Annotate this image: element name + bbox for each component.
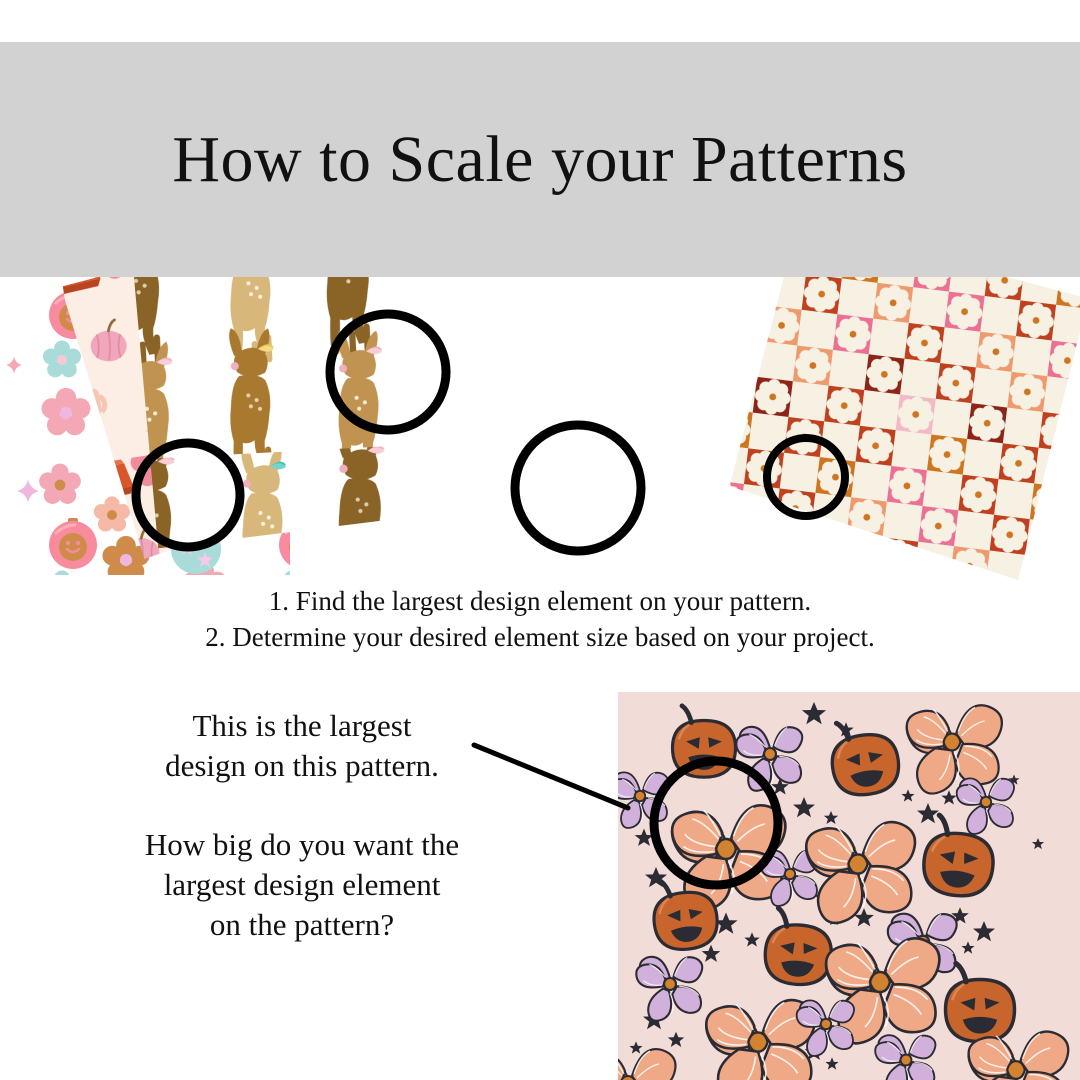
callout-p2-line-3: on the pattern?	[42, 905, 562, 945]
callout-p2-line-1: How big do you want the	[42, 825, 562, 865]
callout-p1-line-2: design on this pattern.	[42, 746, 562, 786]
step-1: 1. Find the largest design element on yo…	[0, 584, 1080, 620]
swatch-deer-fawn	[122, 223, 459, 569]
pattern-sheets-group	[0, 215, 1080, 585]
step-2: 2. Determine your desired element size b…	[0, 620, 1080, 656]
infographic-canvas: How to Scale your Patterns	[0, 0, 1080, 1080]
swatch-halloween-floral-svg	[618, 692, 1080, 1080]
swatch-halloween-floral	[618, 692, 1080, 1080]
swatch-daisy-checkerboard	[714, 215, 1080, 585]
steps-list: 1. Find the largest design element on yo…	[0, 584, 1080, 655]
callout-p2-line-2: largest design element	[42, 865, 562, 905]
callout-paragraph-1: This is the largest design on this patte…	[42, 706, 562, 787]
page-title-text: How to Scale your Patterns	[172, 127, 907, 193]
callout-text-block: This is the largest design on this patte…	[42, 706, 562, 945]
callout-p1-line-1: This is the largest	[42, 706, 562, 746]
pattern-sheets-svg	[0, 215, 1080, 585]
callout-paragraph-2: How big do you want the largest design e…	[42, 825, 562, 946]
